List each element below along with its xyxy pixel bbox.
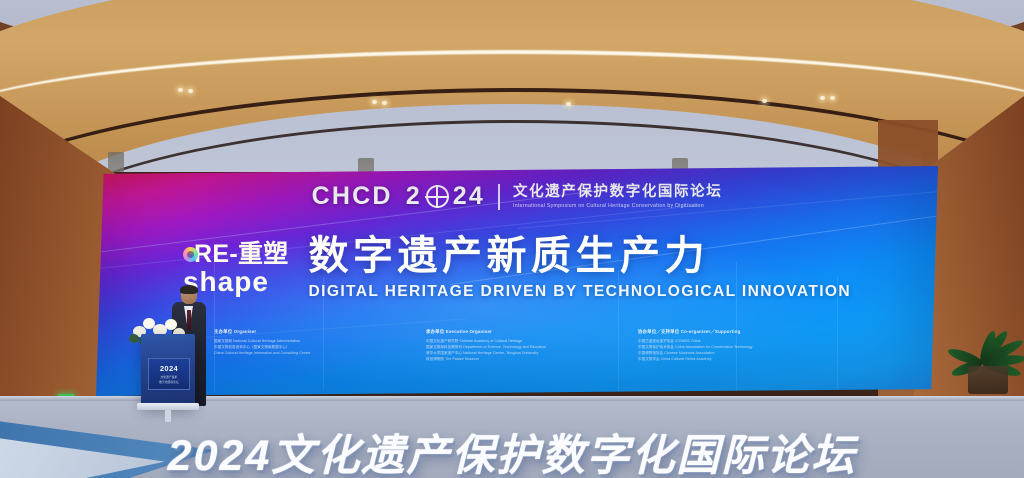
- podium-base: [137, 403, 199, 410]
- speaker-hair: [180, 285, 198, 294]
- ceiling-spotlight: [762, 99, 767, 103]
- podium-year: 2024: [160, 364, 178, 373]
- ceiling-spotlight: [566, 102, 571, 106]
- conference-stage-photo: CHCD 2 24 文化遗产保护数字化国际论坛 International Sy…: [0, 0, 1024, 478]
- ceiling-spotlight: [830, 96, 835, 100]
- podium-stem: [165, 408, 171, 422]
- podium: 2024 文化遗产保护 数字化国际论坛: [141, 334, 195, 406]
- ceiling-vent: [358, 158, 374, 172]
- ceiling-spotlight: [188, 89, 193, 93]
- ceiling-spotlight: [372, 100, 377, 104]
- plant-pot: [968, 366, 1008, 394]
- podium-sign-line: 文化遗产保护: [161, 375, 178, 379]
- foliage: [129, 334, 139, 343]
- podium-sign-line: 数字化国际论坛: [159, 380, 179, 384]
- ceiling-led-strip: [0, 50, 1024, 172]
- ceiling-spotlight: [178, 88, 183, 92]
- ceiling: [0, 0, 1024, 172]
- ceiling-spotlight: [820, 96, 825, 100]
- led-screen: CHCD 2 24 文化遗产保护数字化国际论坛 International Sy…: [96, 166, 938, 396]
- ceiling-vent: [108, 152, 124, 172]
- podium-sign: 2024 文化遗产保护 数字化国际论坛: [148, 358, 190, 390]
- potted-palm-plant: [952, 282, 1018, 394]
- ceiling-spotlight: [382, 101, 387, 105]
- screen-vignette: [96, 166, 938, 396]
